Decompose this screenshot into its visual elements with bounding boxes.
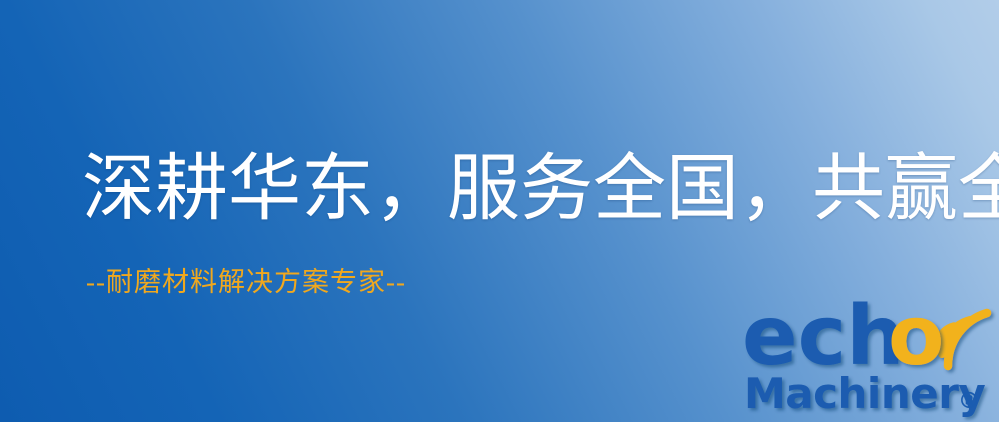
logo-text-machinery: Machinery xyxy=(744,369,985,418)
company-logo[interactable]: ech o Machinery ® xyxy=(742,292,994,418)
signal-arcs-icon xyxy=(938,313,987,366)
page-title: 深耕华东，服务全国，共赢全球 xyxy=(82,152,999,226)
signal-arc-outer-icon xyxy=(948,313,987,366)
trademark-icon: ® xyxy=(958,389,980,414)
page-subtitle: --耐磨材料解决方案专家-- xyxy=(86,268,406,298)
hero-banner: 深耕华东，服务全国，共赢全球 --耐磨材料解决方案专家-- ech o Mach… xyxy=(0,0,999,422)
